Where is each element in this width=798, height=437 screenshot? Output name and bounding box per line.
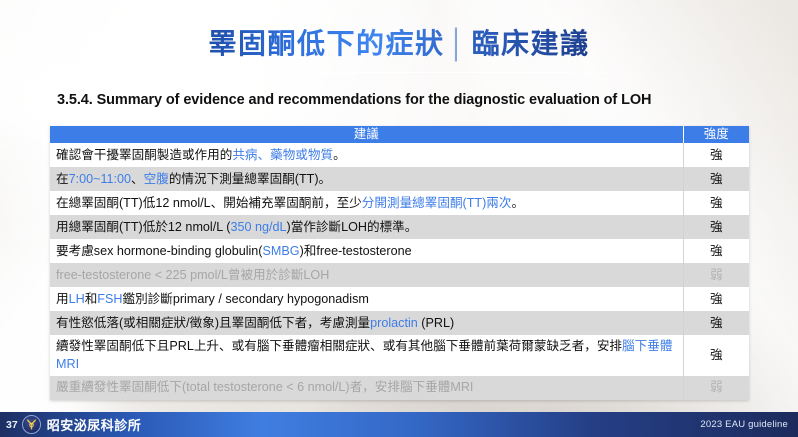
body-text: 的情況下測量總睪固酮(TT)。 <box>169 172 331 186</box>
guideline-source: 2023 EAU guideline <box>700 419 788 430</box>
body-text: )當作診斷LOH的標準。 <box>287 220 418 234</box>
table-row: 在7:00~11:00、空腹的情況下測量總睪固酮(TT)。強 <box>50 167 749 191</box>
body-text: 。 <box>333 148 346 162</box>
body-text: 、 <box>131 172 144 186</box>
strength-cell: 強 <box>683 311 749 335</box>
page-title-sub: 臨床建議 <box>472 28 590 59</box>
body-text: 用總睪固酮(TT)低於12 nmol/L ( <box>56 220 230 234</box>
table-row: 用LH和FSH鑑別診斷primary / secondary hypogonad… <box>50 287 749 311</box>
recommendation-cell: 有性慾低落(或相關症狀/徵象)且睪固酮低下者，考慮測量prolactin (PR… <box>50 311 683 335</box>
strength-cell: 強 <box>683 239 749 263</box>
recommendation-cell: 嚴重續發性睪固酮低下(total testosterone < 6 nmol/L… <box>50 376 683 400</box>
recommendation-cell: 確認會干擾睪固酮製造或作用的共病、藥物或物質。 <box>50 143 683 167</box>
table-row: 續發性睪固酮低下且PRL上升、或有腦下垂體瘤相關症狀、或有其他腦下垂體前葉荷爾蒙… <box>50 335 749 376</box>
table-row: 有性慾低落(或相關症狀/徵象)且睪固酮低下者，考慮測量prolactin (PR… <box>50 311 749 335</box>
body-text: 和 <box>85 292 98 306</box>
recommendation-cell: 續發性睪固酮低下且PRL上升、或有腦下垂體瘤相關症狀、或有其他腦下垂體前葉荷爾蒙… <box>50 335 683 376</box>
table-row: 要考慮sex hormone-binding globulin(SMBG)和fr… <box>50 239 749 263</box>
table-header-row: 建議 強度 <box>50 126 749 143</box>
body-text: 確認會干擾睪固酮製造或作用的 <box>56 148 232 162</box>
title-divider <box>135 72 663 73</box>
strength-cell: 弱 <box>683 263 749 287</box>
table-row: 在總睪固酮(TT)低12 nmol/L、開始補充睪固酮前，至少分開測量總睪固酮(… <box>50 191 749 215</box>
column-header-recommendation: 建議 <box>50 126 683 143</box>
highlight-text: prolactin <box>370 316 418 330</box>
clinic-name: 昭安泌尿科診所 <box>47 415 142 434</box>
page-title-main: 睪固酮低下的症狀 <box>208 28 444 59</box>
highlight-text: SMBG <box>263 244 300 258</box>
page-title: 睪固酮低下的症狀│臨床建議 <box>208 22 589 62</box>
highlight-text: 7:00~11:00 <box>69 172 131 186</box>
recommendation-cell: 用LH和FSH鑑別診斷primary / secondary hypogonad… <box>50 287 683 311</box>
title-separator: │ <box>445 28 472 59</box>
body-text: 在總睪固酮(TT)低12 nmol/L、開始補充睪固酮前，至少 <box>56 196 362 210</box>
table-body: 確認會干擾睪固酮製造或作用的共病、藥物或物質。強在7:00~11:00、空腹的情… <box>50 143 749 400</box>
recommendations-table: 建議 強度 確認會干擾睪固酮製造或作用的共病、藥物或物質。強在7:00~11:0… <box>50 126 749 400</box>
recommendation-cell: 在7:00~11:00、空腹的情況下測量總睪固酮(TT)。 <box>50 167 683 191</box>
page-number: 37 <box>6 419 18 431</box>
table-row: 嚴重續發性睪固酮低下(total testosterone < 6 nmol/L… <box>50 376 749 400</box>
body-text: (PRL) <box>418 316 454 330</box>
section-subtitle: 3.5.4. Summary of evidence and recommend… <box>57 92 651 108</box>
recommendation-cell: 用總睪固酮(TT)低於12 nmol/L (350 ng/dL)當作診斷LOH的… <box>50 215 683 239</box>
body-text: 。 <box>512 196 525 210</box>
table-row: free-testosterone < 225 pmol/L曾被用於診斷LOH弱 <box>50 263 749 287</box>
table-row: 用總睪固酮(TT)低於12 nmol/L (350 ng/dL)當作診斷LOH的… <box>50 215 749 239</box>
highlight-text: 分開測量總睪固酮(TT)兩次 <box>362 196 512 210</box>
body-text: free-testosterone < 225 pmol/L曾被用於診斷LOH <box>56 268 329 282</box>
recommendation-cell: 要考慮sex hormone-binding globulin(SMBG)和fr… <box>50 239 683 263</box>
body-text: 嚴重續發性睪固酮低下(total testosterone < 6 nmol/L… <box>56 380 473 394</box>
clinic-emblem-icon <box>22 415 41 434</box>
body-text: 要考慮sex hormone-binding globulin( <box>56 244 263 258</box>
slide-title-wrap: 睪固酮低下的症狀│臨床建議 <box>0 22 798 62</box>
strength-cell: 弱 <box>683 376 749 400</box>
slide-footer: 37 昭安泌尿科診所 2023 EAU guideline <box>0 412 798 437</box>
column-header-strength: 強度 <box>683 126 749 143</box>
strength-cell: 強 <box>683 287 749 311</box>
highlight-text: 350 ng/dL <box>230 220 286 234</box>
body-text: 在 <box>56 172 69 186</box>
strength-cell: 強 <box>683 215 749 239</box>
recommendation-cell: 在總睪固酮(TT)低12 nmol/L、開始補充睪固酮前，至少分開測量總睪固酮(… <box>50 191 683 215</box>
recommendation-cell: free-testosterone < 225 pmol/L曾被用於診斷LOH <box>50 263 683 287</box>
strength-cell: 強 <box>683 335 749 376</box>
slide-canvas: 睪固酮低下的症狀│臨床建議 3.5.4. Summary of evidence… <box>0 0 798 437</box>
highlight-text: LH <box>69 292 85 306</box>
body-text: )和free-testosterone <box>300 244 412 258</box>
highlight-text: 空腹 <box>144 172 169 186</box>
strength-cell: 強 <box>683 167 749 191</box>
body-text: 用 <box>56 292 69 306</box>
highlight-text: FSH <box>97 292 122 306</box>
body-text: 有性慾低落(或相關症狀/徵象)且睪固酮低下者，考慮測量 <box>56 316 370 330</box>
highlight-text: 共病、藥物或物質 <box>232 148 333 162</box>
body-text: 續發性睪固酮低下且PRL上升、或有腦下垂體瘤相關症狀、或有其他腦下垂體前葉荷爾蒙… <box>56 339 622 353</box>
body-text: 鑑別診斷primary / secondary hypogonadism <box>122 292 368 306</box>
strength-cell: 強 <box>683 143 749 167</box>
strength-cell: 強 <box>683 191 749 215</box>
table-row: 確認會干擾睪固酮製造或作用的共病、藥物或物質。強 <box>50 143 749 167</box>
